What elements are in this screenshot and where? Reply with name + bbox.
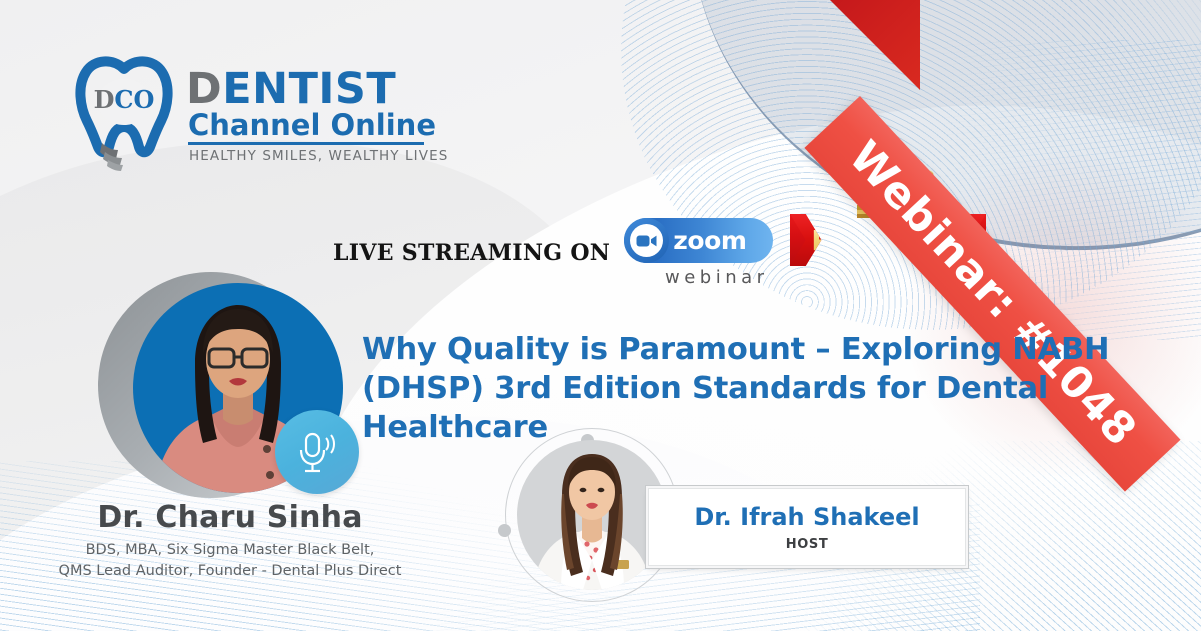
logo-monogram: DCO	[72, 85, 176, 114]
speaker-credentials: BDS, MBA, Six Sigma Master Black Belt, Q…	[0, 540, 460, 582]
host-name-box: Dr. Ifrah Shakeel HOST	[648, 488, 966, 566]
logo-wordmark: DENTIST Channel Online HEALTHY SMILES, W…	[186, 55, 448, 164]
live-streaming-row: LIVE STREAMING ON zoom webinar	[333, 218, 773, 288]
video-camera-icon	[630, 224, 663, 257]
webinar-title-line2: (DHSP) 3rd Edition Standards for Dental …	[362, 369, 1182, 447]
host-name: Dr. Ifrah Shakeel	[694, 503, 919, 531]
logo-tagline: HEALTHY SMILES, WEALTHY LIVES	[186, 148, 448, 164]
webinar-title-line1: Why Quality is Paramount – Exploring NAB…	[362, 330, 1182, 369]
webinar-poster: DCO DENTIST Channel Online HEALTHY SMILE…	[0, 0, 1201, 631]
logo-name-rest: ENTIST	[222, 64, 396, 114]
microphone-badge	[275, 410, 359, 494]
logo-divider	[188, 142, 424, 145]
zoom-webinar-subtitle: webinar	[624, 267, 772, 288]
live-streaming-label: LIVE STREAMING ON	[333, 240, 610, 266]
zoom-pill[interactable]: zoom	[624, 218, 772, 263]
corner-ribbon-fold	[830, 0, 920, 90]
logo-letter-d: D	[186, 64, 222, 114]
host-role-label: HOST	[786, 537, 829, 552]
host-photo-circle	[517, 440, 667, 590]
speaker-credentials-line1: BDS, MBA, Six Sigma Master Black Belt,	[0, 540, 460, 561]
microphone-icon	[296, 430, 338, 474]
logo-name-line2: Channel Online	[186, 110, 448, 140]
zoom-camera-badge	[624, 218, 669, 263]
zoom-wordmark: zoom	[673, 226, 746, 255]
speaker-name: Dr. Charu Sinha	[0, 500, 460, 535]
host-portrait	[517, 448, 667, 590]
logo-name-line1: DENTIST	[186, 69, 448, 110]
host-ring-dot-left	[498, 524, 511, 537]
tooth-implant-icon: DCO	[72, 55, 176, 175]
speaker-credentials-line2: QMS Lead Auditor, Founder - Dental Plus …	[0, 561, 460, 582]
webinar-title: Why Quality is Paramount – Exploring NAB…	[362, 330, 1182, 447]
zoom-webinar-logo[interactable]: zoom webinar	[624, 218, 772, 288]
brand-logo[interactable]: DCO DENTIST Channel Online HEALTHY SMILE…	[72, 55, 448, 175]
